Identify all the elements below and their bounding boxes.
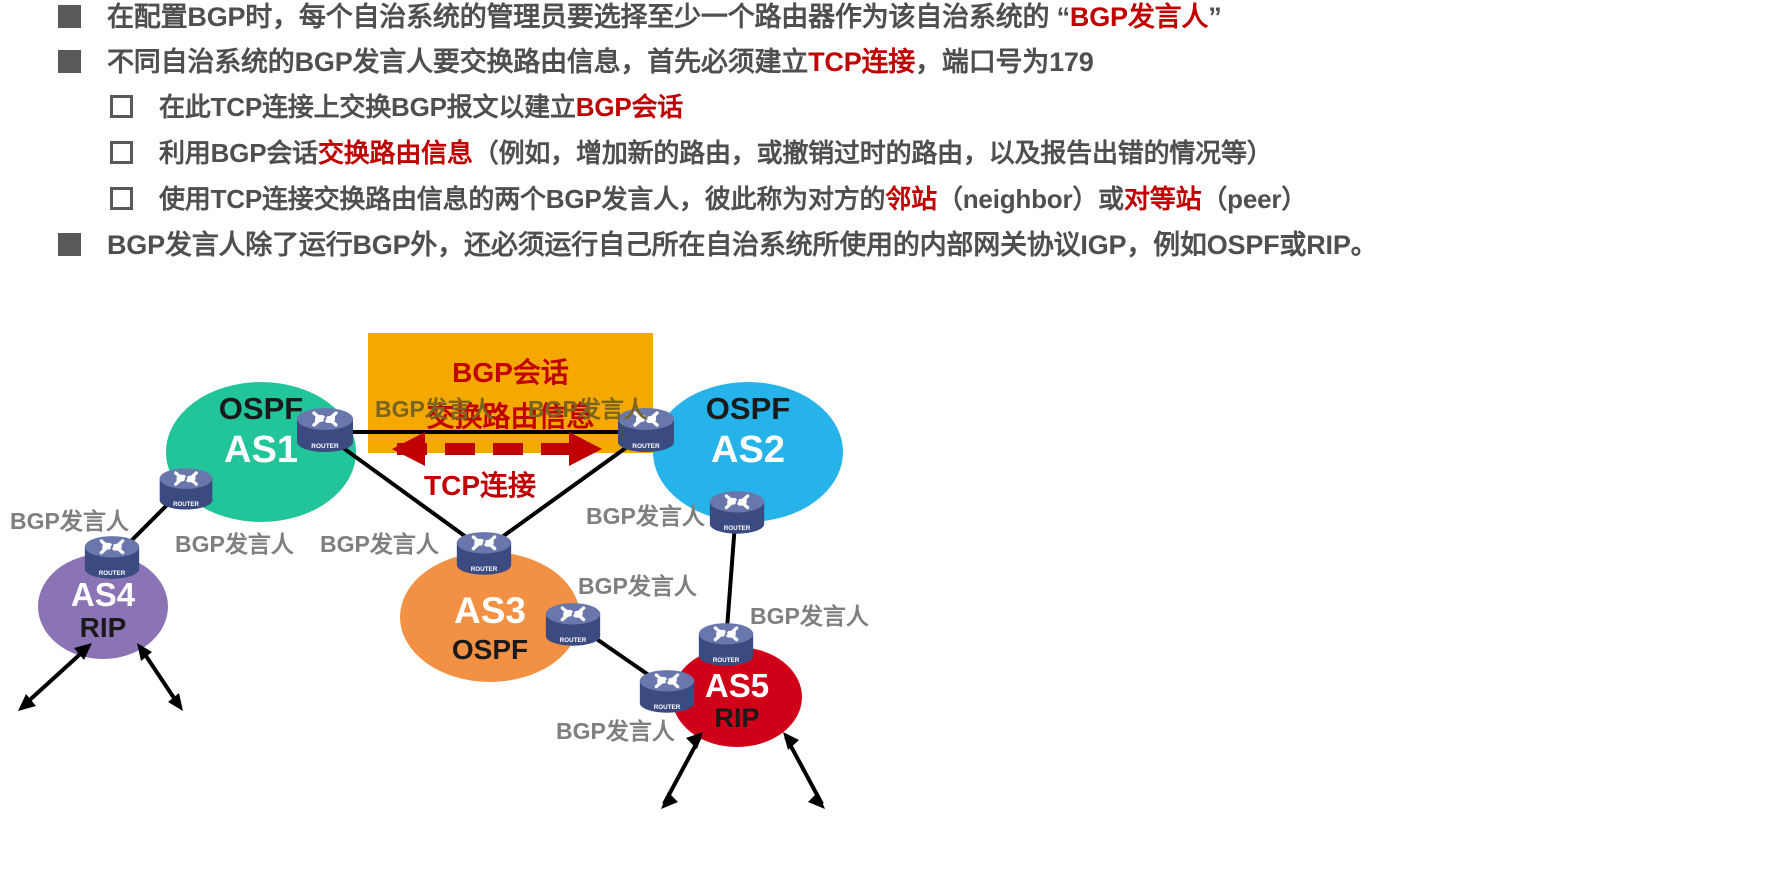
speaker-label-as2-lower: BGP发言人	[586, 497, 705, 531]
speaker-label-as1: BGP发言人	[375, 390, 494, 424]
filled-square-bullet-icon	[58, 233, 81, 256]
tcp-connection-label: TCP连接	[424, 464, 536, 504]
router-caption: ROUTER	[632, 443, 660, 450]
bullet-text-4: 利用BGP会话交换路由信息（例如，增加新的路由，或撤销过时的路由，以及报告出错的…	[159, 136, 1273, 170]
slide-root: 在配置BGP时，每个自治系统的管理员要选择至少一个路由器作为该自治系统的 “BG…	[0, 0, 1792, 893]
bullet-text-1: 在配置BGP时，每个自治系统的管理员要选择至少一个路由器作为该自治系统的 “BG…	[107, 0, 1222, 34]
bullet-text-3: 在此TCP连接上交换BGP报文以建立BGP会话	[159, 90, 683, 124]
speaker-label-as2: BGP发言人	[528, 390, 647, 424]
router-caption: ROUTER	[654, 704, 681, 711]
speaker-label-as3-right: BGP发言人	[578, 567, 697, 601]
bullet-text-2: 不同自治系统的BGP发言人要交换路由信息，首先必须建立TCP连接，端口号为179	[107, 45, 1094, 79]
router-icon-as2-lower: ROUTER	[705, 485, 769, 541]
bullet-item-6: BGP发言人除了运行BGP外，还必须运行自己所在自治系统所使用的内部网关协议IG…	[58, 228, 1560, 273]
bullet-item-3: 在此TCP连接上交换BGP报文以建立BGP会话	[110, 90, 1560, 136]
router-caption: ROUTER	[471, 566, 498, 573]
as4-external-arrows	[18, 643, 183, 711]
connection-lines	[0, 282, 1000, 893]
router-icon-as3-speaker-right: ROUTER	[541, 597, 605, 653]
router-icon-as4-speaker: ROUTER	[80, 530, 144, 586]
router-caption: ROUTER	[713, 657, 740, 664]
bullet-list: 在配置BGP时，每个自治系统的管理员要选择至少一个路由器作为该自治系统的 “BG…	[0, 0, 1560, 273]
router-caption: ROUTER	[724, 525, 751, 532]
network-diagram: BGP会话 交换路由信息 OSPF AS1 OSPF AS2 AS3 OSPF …	[0, 282, 1000, 893]
router-icon-as1-speaker: ROUTER	[292, 402, 358, 459]
router-icon-as1-lower: ROUTER	[155, 462, 217, 517]
router-icon-as5-speaker-top: ROUTER	[694, 617, 758, 673]
tcp-dashed-arrow	[392, 432, 602, 466]
router-caption: ROUTER	[560, 637, 587, 644]
speaker-label-as5-top: BGP发言人	[750, 597, 869, 631]
router-caption: ROUTER	[173, 501, 199, 508]
speaker-label-as5-left: BGP发言人	[556, 712, 675, 746]
bullet-item-2: 不同自治系统的BGP发言人要交换路由信息，首先必须建立TCP连接，端口号为179	[58, 45, 1560, 90]
hollow-square-bullet-icon	[110, 95, 133, 118]
hollow-square-bullet-icon	[110, 187, 133, 210]
bullet-item-4: 利用BGP会话交换路由信息（例如，增加新的路由，或撤销过时的路由，以及报告出错的…	[110, 136, 1560, 182]
bullet-item-1: 在配置BGP时，每个自治系统的管理员要选择至少一个路由器作为该自治系统的 “BG…	[58, 0, 1560, 45]
router-icon-as3-speaker-top: ROUTER	[452, 526, 516, 582]
speaker-label-as1-lower: BGP发言人	[175, 525, 294, 559]
filled-square-bullet-icon	[58, 5, 81, 28]
as5-external-arrows	[661, 732, 825, 809]
filled-square-bullet-icon	[58, 50, 81, 73]
router-caption: ROUTER	[99, 570, 126, 577]
speaker-label-as4-outer: BGP发言人	[10, 502, 129, 536]
bullet-text-5: 使用TCP连接交换路由信息的两个BGP发言人，彼此称为对方的邻站（neighbo…	[159, 182, 1307, 216]
speaker-label-as3-top: BGP发言人	[320, 525, 439, 559]
hollow-square-bullet-icon	[110, 141, 133, 164]
bullet-text-6: BGP发言人除了运行BGP外，还必须运行自己所在自治系统所使用的内部网关协议IG…	[107, 228, 1377, 262]
router-caption: ROUTER	[311, 443, 339, 450]
bullet-item-5: 使用TCP连接交换路由信息的两个BGP发言人，彼此称为对方的邻站（neighbo…	[110, 182, 1560, 228]
